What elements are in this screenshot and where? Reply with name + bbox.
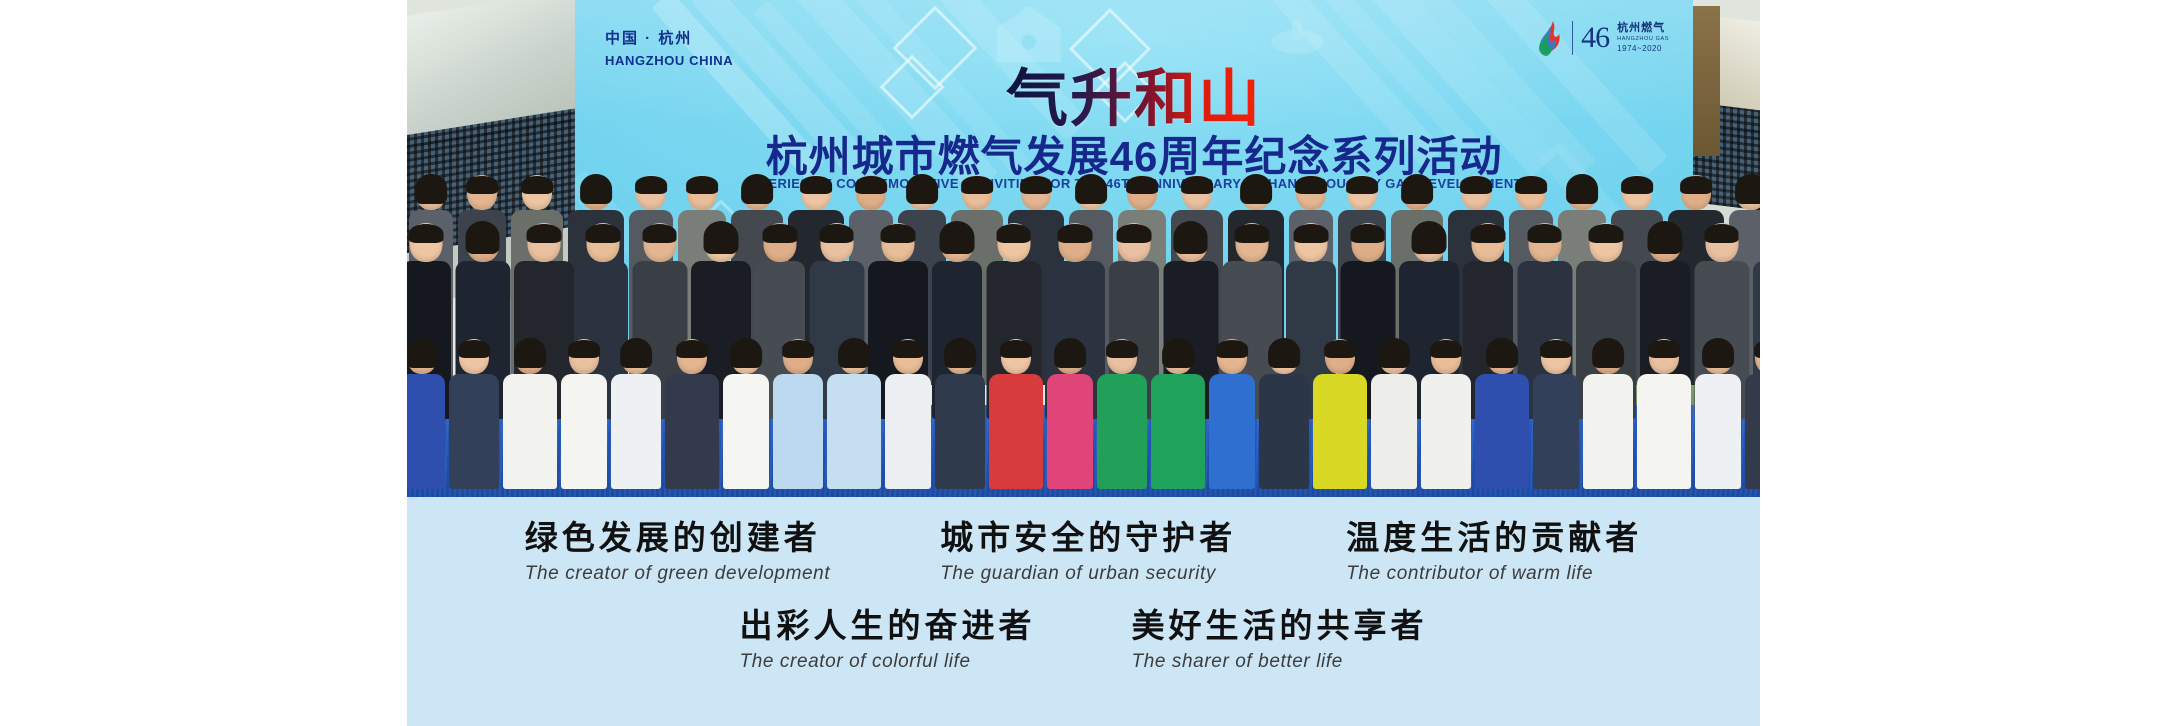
person-hair (1704, 224, 1739, 243)
person-hair (1075, 174, 1107, 204)
brand-years: 1974~2020 (1617, 44, 1669, 54)
person-hair (1117, 224, 1152, 243)
person-hair (961, 176, 993, 193)
person-body (935, 374, 985, 490)
slogan-cn: 城市安全的守护者 (940, 519, 1236, 557)
person-hair (415, 174, 447, 204)
person-hair (1268, 338, 1300, 368)
person-hair (1020, 176, 1052, 193)
slogan-row-1: 绿色发展的创建者 The creator of green developmen… (407, 497, 1760, 585)
person-hair (1702, 338, 1734, 368)
person-hair (1460, 176, 1492, 193)
person-hair (1054, 338, 1086, 368)
slogan-cn: 绿色发展的创建者 (525, 519, 830, 557)
slogan-en: The creator of colorful life (740, 651, 1036, 673)
person (1151, 339, 1205, 489)
person-hair (1566, 174, 1598, 204)
person-hair (458, 340, 490, 357)
person-hair (514, 338, 546, 368)
person-body (1475, 374, 1529, 490)
person-hair (1412, 221, 1447, 254)
person-body (561, 374, 607, 490)
person (1637, 339, 1691, 489)
person-hair (642, 224, 677, 243)
person-hair (892, 340, 924, 357)
person-hair (730, 338, 762, 368)
person-body (407, 374, 445, 490)
person (1371, 339, 1417, 489)
person-hair (1181, 176, 1213, 193)
person-hair (800, 176, 832, 193)
person-hair (1000, 340, 1032, 357)
person (449, 339, 499, 489)
person-hair (521, 176, 553, 193)
person (935, 339, 985, 489)
person-body (449, 374, 499, 490)
person (1695, 339, 1741, 489)
person-hair (1735, 174, 1760, 204)
person (885, 339, 931, 489)
person-hair (1471, 224, 1506, 243)
person (723, 339, 769, 489)
person-body (1745, 374, 1760, 490)
slogan-en: The creator of green development (525, 563, 830, 585)
person-body (885, 374, 931, 490)
person-hair (704, 221, 739, 254)
person-hair (409, 224, 444, 243)
person (1583, 339, 1633, 489)
person-hair (586, 224, 621, 243)
slogan-en: The guardian of urban security (940, 563, 1236, 585)
person-hair (465, 221, 500, 254)
person-hair (1589, 224, 1624, 243)
person-hair (568, 340, 600, 357)
person-hair (1126, 176, 1158, 193)
crowd-group (407, 157, 1760, 497)
person-hair (1350, 224, 1385, 243)
person-hair (1346, 176, 1378, 193)
location-en: HANGZHOU CHINA (605, 51, 733, 71)
anniversary-banner: 中国 · 杭州 HANGZHOU CHINA 46 杭州燃气 HANGZHOU … (407, 0, 1760, 726)
person-hair (1540, 340, 1572, 357)
person-hair (944, 338, 976, 368)
brand-name-cn: 杭州燃气 (1617, 22, 1669, 36)
person-hair (1401, 174, 1433, 204)
person-hair (906, 174, 938, 204)
person-body (1583, 374, 1633, 490)
person-body (503, 374, 557, 490)
slogan-cn: 出彩人生的奋进者 (740, 607, 1036, 645)
person-body (1421, 374, 1471, 490)
person-hair (782, 340, 814, 357)
slogan-en: The contributor of warm life (1346, 563, 1642, 585)
person (1475, 339, 1529, 489)
person-hair (407, 338, 438, 368)
brand-lockup: 46 杭州燃气 HANGZHOU GAS 1974~2020 (1538, 20, 1669, 56)
person-body (611, 374, 661, 490)
person-body (1313, 374, 1367, 490)
person-hair (996, 224, 1031, 243)
person-hair (620, 338, 652, 368)
person (561, 339, 607, 489)
brand-divider (1572, 21, 1573, 55)
person-hair (1162, 338, 1194, 368)
person-body (1209, 374, 1255, 490)
person-hair (1621, 176, 1653, 193)
person-hair (580, 174, 612, 204)
slogan-better-life: 美好生活的共享者 The sharer of better life (1132, 607, 1428, 673)
person (611, 339, 661, 489)
person-hair (1648, 221, 1683, 254)
screenshot-root: 中国 · 杭州 HANGZHOU CHINA 46 杭州燃气 HANGZHOU … (0, 0, 2179, 726)
person (1097, 339, 1147, 489)
person-body (665, 374, 719, 490)
person-hair (1294, 224, 1329, 243)
group-photo: 中国 · 杭州 HANGZHOU CHINA 46 杭州燃气 HANGZHOU … (407, 0, 1760, 497)
brand-text-block: 杭州燃气 HANGZHOU GAS 1974~2020 (1617, 22, 1669, 54)
person (407, 339, 445, 489)
slogan-warm-life: 温度生活的贡献者 The contributor of warm life (1346, 519, 1642, 585)
person-body (723, 374, 769, 490)
person (1533, 339, 1579, 489)
person (989, 339, 1043, 489)
gas-burner-icon (1265, 8, 1329, 66)
person-hair (1754, 340, 1760, 357)
person-hair (1216, 340, 1248, 357)
person-hair (838, 338, 870, 368)
person-body (1047, 374, 1093, 490)
person-body (1097, 374, 1147, 490)
person-body (1371, 374, 1417, 490)
person-body (989, 374, 1043, 490)
flame-logo-icon (1538, 20, 1564, 56)
slogan-en: The sharer of better life (1132, 651, 1428, 673)
slogan-urban-security: 城市安全的守护者 The guardian of urban security (940, 519, 1236, 585)
person-body (773, 374, 823, 490)
person-hair (763, 224, 798, 243)
brand-name-en: HANGZHOU GAS (1617, 36, 1669, 43)
person-hair (527, 224, 562, 243)
person-hair (1235, 224, 1270, 243)
person-hair (940, 221, 975, 254)
slogan-green-development: 绿色发展的创建者 The creator of green developmen… (525, 519, 830, 585)
led-location-block: 中国 · 杭州 HANGZHOU CHINA (605, 28, 733, 70)
person-body (1695, 374, 1741, 490)
person-body (1151, 374, 1205, 490)
slogan-cn: 温度生活的贡献者 (1346, 519, 1642, 557)
person (827, 339, 881, 489)
person-hair (466, 176, 498, 193)
person (1745, 339, 1760, 489)
person-hair (676, 340, 708, 357)
person-hair (1648, 340, 1680, 357)
person-hair (1527, 224, 1562, 243)
person (665, 339, 719, 489)
person-hair (1106, 340, 1138, 357)
person-hair (741, 174, 773, 204)
person (1047, 339, 1093, 489)
person-hair (1240, 174, 1272, 204)
location-cn: 中国 · 杭州 (605, 28, 733, 51)
person-hair (855, 176, 887, 193)
brand-anniversary-number: 46 (1581, 21, 1609, 55)
person-hair (1058, 224, 1093, 243)
person (1313, 339, 1367, 489)
slogan-row-2: 出彩人生的奋进者 The creator of colorful life 美好… (407, 585, 1760, 673)
person (1259, 339, 1309, 489)
person-body (1259, 374, 1309, 490)
slogan-cn: 美好生活的共享者 (1132, 607, 1428, 645)
person-hair (819, 224, 854, 243)
person-hair (1486, 338, 1518, 368)
person-body (1637, 374, 1691, 490)
person-hair (1515, 176, 1547, 193)
person-hair (1430, 340, 1462, 357)
slogan-colorful-life: 出彩人生的奋进者 The creator of colorful life (740, 607, 1036, 673)
person-hair (1295, 176, 1327, 193)
person (1209, 339, 1255, 489)
person-body (1533, 374, 1579, 490)
person-body (827, 374, 881, 490)
slogan-panel: 绿色发展的创建者 The creator of green developmen… (407, 497, 1760, 726)
person (1421, 339, 1471, 489)
person-hair (1173, 221, 1208, 254)
person-hair (1378, 338, 1410, 368)
person-hair (635, 176, 667, 193)
person (503, 339, 557, 489)
person-hair (881, 224, 916, 243)
person-hair (686, 176, 718, 193)
person (773, 339, 823, 489)
person-hair (1592, 338, 1624, 368)
person-hair (1680, 176, 1712, 193)
person-hair (1324, 340, 1356, 357)
